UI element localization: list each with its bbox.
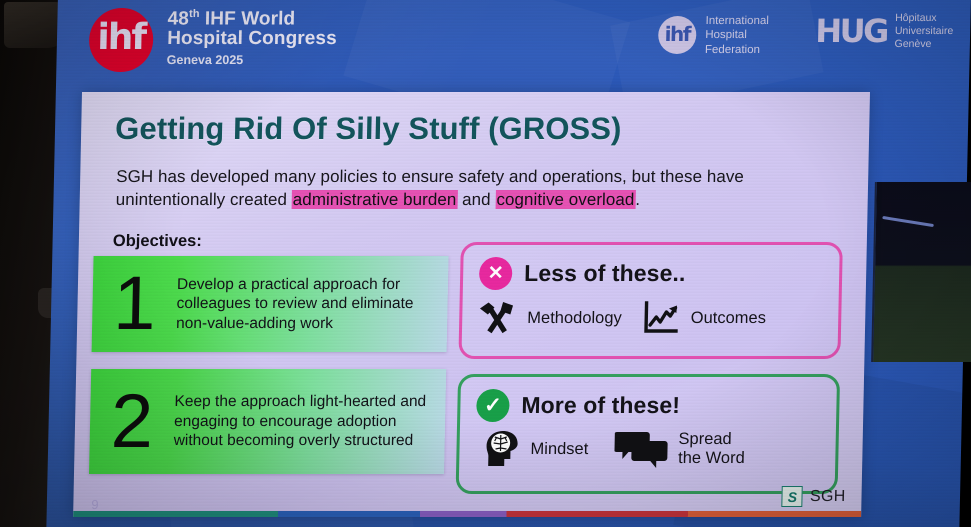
presentation-slide: Getting Rid Of Silly Stuff (GROSS) SGH h… — [73, 92, 870, 517]
objective-number: 2 — [89, 387, 174, 457]
intro-part2: and — [457, 190, 495, 209]
slide-bottom-stripe — [73, 511, 861, 517]
item-mindset: Mindset — [483, 429, 589, 469]
congress-title-rest: IHF World — [199, 8, 295, 29]
congress-edition-suffix: th — [189, 8, 200, 20]
sgh-mark-icon: S — [782, 486, 803, 507]
org-ihf-line1: International — [705, 14, 769, 28]
page-title: Getting Rid Of Silly Stuff (GROSS) — [115, 111, 622, 147]
objective-card-1: 1 Develop a practical approach for colle… — [92, 256, 449, 352]
ihf-logo-glyph: ihf — [97, 20, 145, 60]
congress-title-line1: 48th IHF World — [167, 9, 337, 29]
congress-header: ihf 48th IHF World Hospital Congress Gen… — [74, 0, 971, 92]
item-methodology-label: Methodology — [527, 309, 622, 328]
org-logo-hug: HUG Hôpitaux Universitaire Genève — [815, 12, 954, 50]
item-mindset-label: Mindset — [530, 440, 588, 459]
item-spread-the-word-label: Spread the Word — [678, 430, 745, 468]
side-monitor — [871, 182, 971, 362]
intro-part3: . — [635, 190, 640, 209]
intro-paragraph: SGH has developed many policies to ensur… — [115, 166, 832, 212]
org-ihf-text: International Hospital Federation — [705, 14, 769, 57]
ihf-circle-glyph: ihf — [664, 24, 690, 46]
spread-label-line2: the Word — [678, 449, 745, 467]
head-brain-icon — [483, 429, 522, 469]
item-methodology: Methodology — [478, 301, 622, 335]
ihf-circle-icon: ihf — [658, 16, 697, 54]
screenshot-stage: ihf 48th IHF World Hospital Congress Gen… — [0, 0, 971, 527]
congress-title: 48th IHF World Hospital Congress Geneva … — [167, 9, 338, 67]
page-number: 9 — [91, 497, 99, 512]
sgh-logo: S SGH — [782, 486, 846, 507]
highlight-administrative-burden: administrative burden — [292, 190, 458, 209]
panel-more-header: ✓ More of these! — [476, 389, 680, 422]
monitor-light-streak — [882, 216, 934, 227]
congress-edition-number: 48 — [167, 8, 189, 29]
highlight-cognitive-overload: cognitive overload — [495, 190, 635, 209]
objectives-label: Objectives: — [113, 232, 202, 251]
speech-bubbles-icon — [614, 429, 669, 469]
line-chart-icon — [643, 301, 682, 335]
objective-card-2: 2 Keep the approach light-hearted and en… — [89, 369, 446, 474]
panel-less-items: Methodology Outcomes — [478, 301, 829, 335]
org-logo-ihf: ihf International Hospital Federation — [658, 14, 769, 57]
congress-location-year: Geneva 2025 — [167, 54, 337, 67]
org-hug-text: Hôpitaux Universitaire Genève — [894, 12, 953, 50]
check-circle-icon: ✓ — [476, 389, 510, 422]
x-circle-icon: ✕ — [479, 257, 513, 290]
spread-label-line1: Spread — [678, 430, 732, 448]
org-hug-line2: Universitaire — [895, 25, 954, 38]
item-outcomes-label: Outcomes — [691, 309, 767, 328]
congress-title-line2: Hospital Congress — [167, 29, 337, 49]
objective-text: Develop a practical approach for colleag… — [176, 275, 448, 334]
hug-wordmark: HUG — [815, 15, 887, 47]
panel-more-items: Mindset Spread the Word — [483, 429, 826, 469]
org-ihf-line3: Federation — [705, 43, 769, 57]
crossed-hammers-icon — [478, 301, 519, 335]
panel-less-header: ✕ Less of these.. — [479, 257, 686, 290]
sgh-logo-text: SGH — [810, 488, 846, 506]
objective-number: 1 — [92, 269, 177, 339]
org-hug-line3: Genève — [894, 38, 953, 51]
item-spread-the-word: Spread the Word — [614, 429, 745, 469]
panel-less-title: Less of these.. — [524, 260, 686, 287]
objective-text: Keep the approach light-hearted and enga… — [173, 392, 445, 451]
panel-more-title: More of these! — [521, 392, 680, 419]
sgh-mark-glyph: S — [788, 490, 798, 504]
panel-less-of-these: ✕ Less of these.. — [458, 242, 842, 359]
org-ihf-line2: Hospital — [705, 28, 769, 42]
ihf-logo-icon: ihf — [88, 8, 153, 72]
org-hug-line1: Hôpitaux — [895, 12, 954, 25]
item-outcomes: Outcomes — [643, 301, 766, 335]
panel-more-of-these: ✓ More of these! Mindset — [456, 374, 841, 494]
